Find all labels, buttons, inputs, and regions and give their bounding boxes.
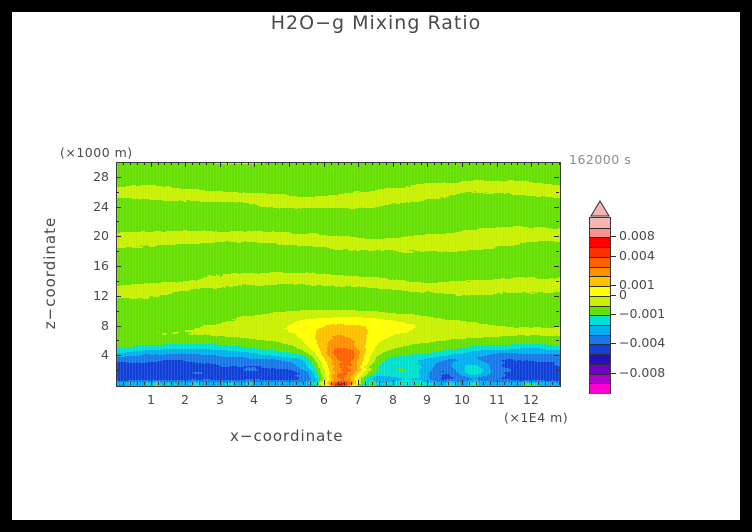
x-minor-tick [317, 382, 318, 385]
x-minor-tick [192, 162, 193, 165]
x-minor-tick [268, 382, 269, 385]
x-minor-tick [303, 382, 304, 385]
x-minor-tick [379, 162, 380, 165]
x-minor-tick [538, 162, 539, 165]
x-minor-tick [144, 162, 145, 165]
x-tick [427, 162, 428, 167]
colorbar-tick [610, 343, 616, 344]
x-tick-label: 8 [378, 392, 408, 407]
z-minor-tick [116, 251, 119, 252]
x-minor-tick [559, 382, 560, 385]
colorbar-band-divider [590, 344, 610, 345]
x-minor-tick [476, 382, 477, 385]
x-minor-tick [441, 162, 442, 165]
x-minor-tick [517, 382, 518, 385]
x-tick [393, 162, 394, 167]
x-minor-tick [310, 382, 311, 385]
x-minor-tick [296, 162, 297, 165]
x-minor-tick [261, 382, 262, 385]
colorbar-band-divider [590, 315, 610, 316]
x-minor-tick [213, 162, 214, 165]
colorbar-tick-label: 0.004 [619, 248, 655, 263]
colorbar [589, 217, 611, 394]
x-minor-tick [490, 382, 491, 385]
x-tick-label: 5 [274, 392, 304, 407]
colorbar-band-divider [590, 257, 610, 258]
x-minor-tick [455, 162, 456, 165]
x-minor-tick [137, 382, 138, 385]
x-tick [151, 380, 152, 385]
z-tick-label: 16 [79, 258, 109, 273]
x-minor-tick [123, 382, 124, 385]
x-minor-tick [331, 162, 332, 165]
x-minor-tick [137, 162, 138, 165]
z-tick-label: 28 [79, 169, 109, 184]
x-minor-tick [434, 162, 435, 165]
x-minor-tick [483, 162, 484, 165]
z-minor-tick [116, 192, 119, 193]
colorbar-tick [610, 236, 616, 237]
x-minor-tick [158, 382, 159, 385]
x-minor-tick [268, 162, 269, 165]
x-minor-tick [421, 382, 422, 385]
x-minor-tick [275, 382, 276, 385]
z-tick [554, 266, 559, 267]
contour-field [117, 163, 560, 386]
figure-canvas: H2O−g Mixing Ratio (×1000 m) (×1E4 m) x−… [12, 12, 740, 520]
z-minor-tick [556, 192, 559, 193]
colorbar-band-divider [590, 364, 610, 365]
time-annotation: 162000 s [569, 152, 631, 167]
x-tick-label: 4 [239, 392, 269, 407]
z-tick [116, 207, 121, 208]
x-minor-tick [400, 382, 401, 385]
x-minor-tick [414, 382, 415, 385]
x-tick [289, 162, 290, 167]
x-minor-tick [344, 382, 345, 385]
z-minor-tick [556, 311, 559, 312]
x-minor-tick [524, 382, 525, 385]
z-tick-label: 24 [79, 199, 109, 214]
x-tick [254, 380, 255, 385]
figure-page: H2O−g Mixing Ratio (×1000 m) (×1E4 m) x−… [0, 0, 752, 532]
x-tick [462, 162, 463, 167]
x-minor-tick [483, 382, 484, 385]
x-minor-tick [282, 162, 283, 165]
colorbar-tick-label: −0.008 [619, 365, 665, 380]
x-tick [531, 380, 532, 385]
x-tick-label: 11 [482, 392, 512, 407]
x-minor-tick [282, 382, 283, 385]
x-minor-tick [524, 162, 525, 165]
x-minor-tick [545, 382, 546, 385]
x-minor-tick [538, 382, 539, 385]
x-minor-tick [199, 162, 200, 165]
x-tick [358, 380, 359, 385]
x-minor-tick [490, 162, 491, 165]
x-tick [220, 380, 221, 385]
z-minor-tick [556, 221, 559, 222]
colorbar-band-divider [590, 286, 610, 287]
colorbar-band-divider [590, 354, 610, 355]
x-tick [324, 162, 325, 167]
z-tick [116, 326, 121, 327]
x-minor-tick [448, 382, 449, 385]
colorbar-band-divider [590, 296, 610, 297]
colorbar-band-divider [590, 325, 610, 326]
x-minor-tick [504, 162, 505, 165]
colorbar-band-divider [590, 306, 610, 307]
colorbar-band-divider [590, 247, 610, 248]
z-minor-tick [116, 311, 119, 312]
colorbar-tick [610, 256, 616, 257]
z-minor-tick [556, 251, 559, 252]
x-minor-tick [241, 162, 242, 165]
x-axis-title: x−coordinate [230, 427, 343, 445]
x-minor-tick [559, 162, 560, 165]
colorbar-band [590, 383, 610, 393]
x-minor-tick [178, 162, 179, 165]
x-minor-tick [130, 382, 131, 385]
x-tick-label: 7 [343, 392, 373, 407]
x-minor-tick [164, 162, 165, 165]
x-tick [151, 162, 152, 167]
x-minor-tick [476, 162, 477, 165]
z-tick-label: 20 [79, 228, 109, 243]
z-tick-label: 4 [79, 347, 109, 362]
x-minor-tick [552, 162, 553, 165]
x-minor-tick [441, 382, 442, 385]
contour-plot-area [116, 162, 561, 387]
x-tick-label: 3 [205, 392, 235, 407]
x-minor-tick [213, 382, 214, 385]
z-tick [554, 207, 559, 208]
x-minor-tick [331, 382, 332, 385]
x-minor-tick [351, 382, 352, 385]
x-minor-tick [434, 382, 435, 385]
x-minor-tick [227, 382, 228, 385]
x-minor-tick [199, 382, 200, 385]
x-minor-tick [206, 382, 207, 385]
x-minor-tick [275, 162, 276, 165]
x-minor-tick [248, 162, 249, 165]
x-minor-tick [386, 162, 387, 165]
x-tick-label: 9 [412, 392, 442, 407]
x-minor-tick [372, 162, 373, 165]
x-tick [393, 380, 394, 385]
x-minor-tick [123, 162, 124, 165]
z-tick [554, 355, 559, 356]
z-minor-tick [556, 281, 559, 282]
x-minor-tick [455, 382, 456, 385]
x-minor-tick [511, 382, 512, 385]
z-minor-tick [116, 370, 119, 371]
x-minor-tick [552, 382, 553, 385]
colorbar-tick [610, 295, 616, 296]
x-minor-tick [234, 382, 235, 385]
x-minor-tick [171, 382, 172, 385]
x-minor-tick [421, 162, 422, 165]
x-minor-tick [164, 382, 165, 385]
colorbar-band-divider [590, 374, 610, 375]
colorbar-arrow-cap [589, 200, 611, 218]
x-minor-tick [206, 162, 207, 165]
colorbar-band-divider [590, 383, 610, 384]
x-minor-tick [351, 162, 352, 165]
colorbar-tick-label: −0.001 [619, 306, 665, 321]
x-minor-tick [338, 162, 339, 165]
x-axis-unit-label: (×1E4 m) [504, 410, 568, 425]
x-tick [497, 162, 498, 167]
x-tick [497, 380, 498, 385]
x-minor-tick [407, 162, 408, 165]
colorbar-tick [610, 285, 616, 286]
x-minor-tick [144, 382, 145, 385]
z-minor-tick [556, 370, 559, 371]
x-minor-tick [178, 382, 179, 385]
x-tick [462, 380, 463, 385]
x-minor-tick [469, 382, 470, 385]
x-minor-tick [511, 162, 512, 165]
colorbar-tick [610, 314, 616, 315]
x-minor-tick [296, 382, 297, 385]
z-minor-tick [556, 340, 559, 341]
colorbar-tick-label: 0.008 [619, 228, 655, 243]
z-axis-title: z−coordinate [41, 193, 59, 353]
x-minor-tick [365, 162, 366, 165]
x-minor-tick [386, 382, 387, 385]
x-tick [220, 162, 221, 167]
x-minor-tick [310, 162, 311, 165]
x-tick [531, 162, 532, 167]
x-tick [254, 162, 255, 167]
x-minor-tick [171, 162, 172, 165]
x-tick [185, 380, 186, 385]
x-minor-tick [545, 162, 546, 165]
x-minor-tick [469, 162, 470, 165]
x-tick-label: 10 [447, 392, 477, 407]
colorbar-tick [610, 373, 616, 374]
x-tick [185, 162, 186, 167]
z-minor-tick [116, 221, 119, 222]
x-minor-tick [400, 162, 401, 165]
x-minor-tick [344, 162, 345, 165]
z-tick-label: 12 [79, 288, 109, 303]
z-tick [116, 177, 121, 178]
x-minor-tick [158, 162, 159, 165]
colorbar-band-divider [590, 237, 610, 238]
colorbar-band-divider [590, 267, 610, 268]
x-minor-tick [227, 162, 228, 165]
x-minor-tick [448, 162, 449, 165]
z-tick [116, 355, 121, 356]
x-minor-tick [241, 382, 242, 385]
colorbar-band-divider [590, 335, 610, 336]
z-tick [116, 236, 121, 237]
x-minor-tick [379, 382, 380, 385]
x-tick [324, 380, 325, 385]
x-minor-tick [365, 382, 366, 385]
x-minor-tick [234, 162, 235, 165]
colorbar-tick-label: 0 [619, 287, 627, 302]
x-minor-tick [261, 162, 262, 165]
x-tick [427, 380, 428, 385]
x-minor-tick [414, 162, 415, 165]
x-minor-tick [303, 162, 304, 165]
x-minor-tick [372, 382, 373, 385]
x-tick-label: 2 [170, 392, 200, 407]
x-minor-tick [517, 162, 518, 165]
z-minor-tick [116, 340, 119, 341]
x-minor-tick [248, 382, 249, 385]
x-tick [358, 162, 359, 167]
colorbar-band-divider [590, 276, 610, 277]
z-minor-tick [116, 281, 119, 282]
z-tick [554, 177, 559, 178]
colorbar-tick-label: −0.004 [619, 335, 665, 350]
z-axis-unit-label: (×1000 m) [60, 145, 133, 160]
x-minor-tick [504, 382, 505, 385]
z-tick [116, 266, 121, 267]
z-tick [554, 326, 559, 327]
x-tick-label: 6 [309, 392, 339, 407]
x-tick-label: 1 [136, 392, 166, 407]
z-tick [116, 296, 121, 297]
x-tick [289, 380, 290, 385]
z-tick [554, 296, 559, 297]
z-tick-label: 8 [79, 318, 109, 333]
x-minor-tick [130, 162, 131, 165]
x-tick-label: 12 [516, 392, 546, 407]
z-tick [554, 236, 559, 237]
colorbar-band-divider [590, 228, 610, 229]
x-minor-tick [407, 382, 408, 385]
x-minor-tick [317, 162, 318, 165]
x-minor-tick [338, 382, 339, 385]
x-minor-tick [192, 382, 193, 385]
page-title: H2O−g Mixing Ratio [12, 12, 740, 34]
